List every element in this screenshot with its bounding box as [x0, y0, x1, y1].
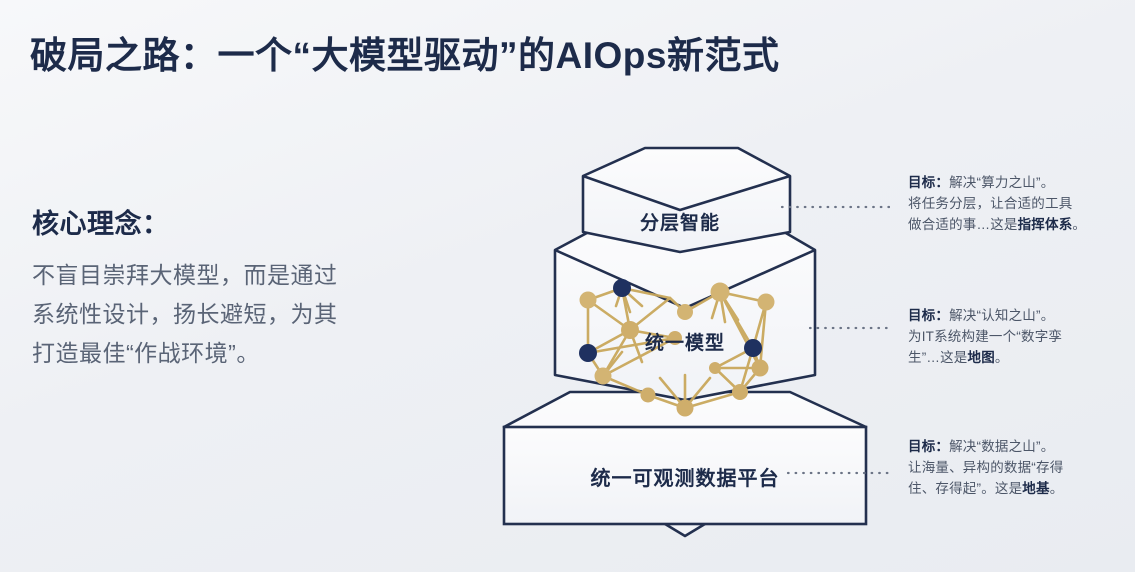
layer-label-bottom: 统一可观测数据平台	[591, 462, 780, 491]
page-title: 破局之路：一个“大模型驱动”的AIOps新范式	[30, 25, 779, 79]
concept-line-3: 打造最佳“作战环境”。	[32, 334, 432, 373]
graph-node-gold	[621, 321, 639, 339]
annotation-label: 目标：	[908, 175, 949, 190]
annotation-label: 目标：	[908, 439, 949, 454]
annotation-text-a: 解决“认知之山”。	[949, 308, 1054, 323]
graph-node-gold	[732, 384, 748, 400]
layer-top-block[interactable]	[583, 148, 790, 252]
graph-node-navy	[613, 279, 631, 297]
graph-node-gold	[752, 360, 769, 377]
layer-label-middle: 统一模型	[645, 328, 725, 355]
annotation-text-b: 让海量、异构的数据“存得	[908, 460, 1063, 475]
annotation-text-b: 将任务分层，让合适的工具	[908, 196, 1072, 211]
annotation-text-d: 。	[1050, 481, 1064, 496]
annotation-data-platform: 目标：解决“数据之山”。 让海量、异构的数据“存得 住、存得起”。这是地基。	[908, 436, 1118, 499]
graph-node-gold	[580, 292, 597, 309]
graph-node-gold	[758, 294, 775, 311]
concept-line-1: 不盲目崇拜大模型，而是通过	[32, 256, 432, 295]
graph-node-navy	[744, 339, 762, 357]
annotation-text-d: 。	[995, 350, 1009, 365]
graph-node-gold	[677, 304, 693, 320]
graph-node-gold	[709, 362, 721, 374]
graph-node-gold	[677, 400, 694, 417]
annotation-text-a: 解决“数据之山”。	[949, 439, 1054, 454]
annotation-highlight: 地图	[968, 350, 995, 365]
annotation-text-b: 为IT系统构建一个“数字孪	[908, 329, 1062, 344]
annotation-text-a: 解决“算力之山”。	[949, 175, 1054, 190]
annotation-text-c: 做合适的事…这是	[908, 217, 1018, 232]
graph-node-gold	[641, 388, 656, 403]
annotation-text-c: 生”…这是	[908, 350, 968, 365]
annotation-text-c: 住、存得起”。这是	[908, 481, 1022, 496]
concept-heading: 核心理念：	[32, 202, 170, 241]
annotation-label: 目标：	[908, 308, 949, 323]
graph-node-gold	[711, 283, 730, 302]
pyramid-diagram: 分层智能 统一模型 统一可观测数据平台	[470, 140, 890, 550]
annotation-highlight: 指挥体系	[1018, 217, 1073, 232]
concept-line-2: 系统性设计，扬长避短，为其	[32, 295, 432, 334]
layer-label-top: 分层智能	[640, 208, 720, 235]
annotation-text-d: 。	[1072, 217, 1086, 232]
top-block-body	[583, 148, 790, 252]
concept-body: 不盲目崇拜大模型，而是通过 系统性设计，扬长避短，为其 打造最佳“作战环境”。	[32, 256, 432, 373]
slide-canvas: 破局之路：一个“大模型驱动”的AIOps新范式 核心理念： 不盲目崇拜大模型，而…	[0, 0, 1135, 572]
graph-node-gold	[595, 368, 612, 385]
graph-node-navy	[579, 344, 597, 362]
annotation-hierarchical-intelligence: 目标：解决“算力之山”。 将任务分层，让合适的工具 做合适的事…这是指挥体系。	[908, 172, 1118, 235]
annotation-unified-model: 目标：解决“认知之山”。 为IT系统构建一个“数字孪 生”…这是地图。	[908, 305, 1118, 368]
annotation-highlight: 地基	[1022, 481, 1049, 496]
